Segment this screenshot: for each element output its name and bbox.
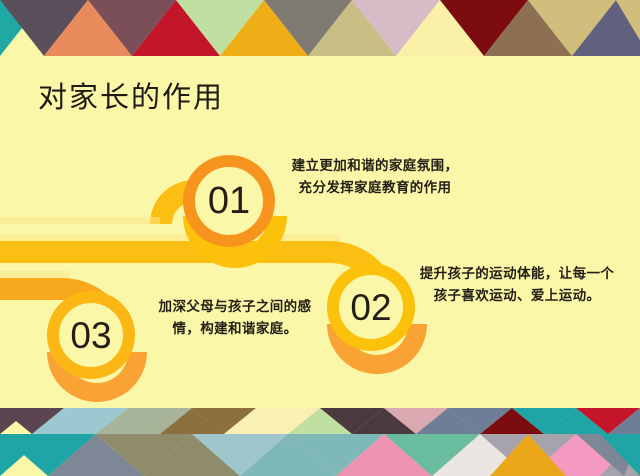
slide-canvas: 对家长的作用 01 建立更加和谐的家庭氛围，充分发挥家庭教育的作用 02 提升孩… [0, 0, 640, 476]
node-circle-03[interactable]: 03 [47, 291, 135, 379]
triangle-row-top [0, 0, 640, 56]
node-circle-01[interactable]: 01 [183, 155, 275, 247]
node-number-02: 02 [350, 289, 391, 326]
triangle-pattern-top [0, 0, 640, 56]
triangle-row-bottom-upper [0, 408, 640, 434]
slide-body: 对家长的作用 01 建立更加和谐的家庭氛围，充分发挥家庭教育的作用 02 提升孩… [0, 56, 640, 403]
ribbon-highlight-a [0, 217, 160, 224]
node-text-03: 加深父母与孩子之间的感情，构建和谐家庭。 [145, 296, 325, 340]
page-title: 对家长的作用 [38, 74, 224, 116]
node-text-01: 建立更加和谐的家庭氛围，充分发挥家庭教育的作用 [287, 155, 463, 199]
node-circle-02[interactable]: 02 [327, 263, 415, 351]
triangle-pattern-bottom [0, 403, 640, 476]
ribbon-highlight-b [0, 234, 340, 241]
node-number-03: 03 [70, 317, 111, 354]
ribbon-highlight-c [0, 271, 70, 278]
node-text-02: 提升孩子的运动体能，让每一个孩子喜欢运动、爱上运动。 [413, 263, 621, 307]
node-number-01: 01 [208, 182, 250, 220]
